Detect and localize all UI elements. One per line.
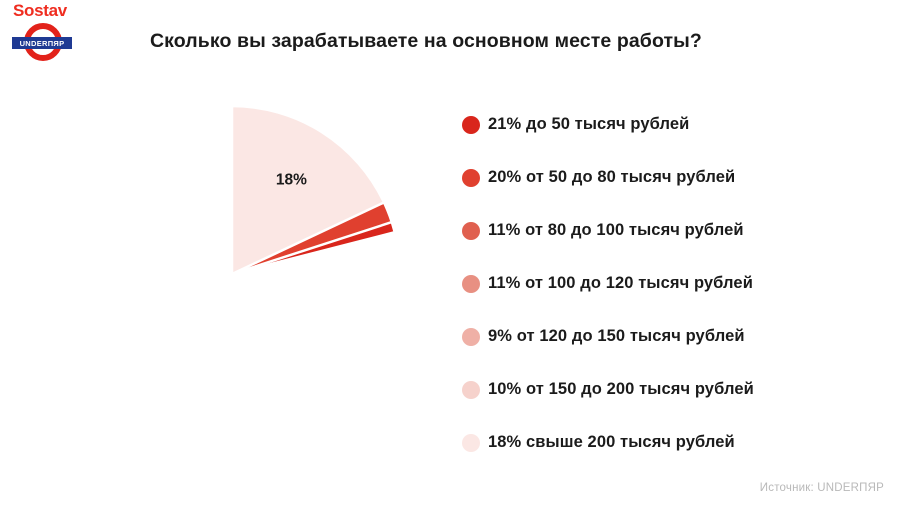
chart-legend: 21% до 50 тысяч рублей20% от 50 до 80 ты… xyxy=(462,98,882,469)
legend-color-dot-icon xyxy=(462,275,480,293)
legend-item-percent: 21% xyxy=(488,115,521,134)
legend-item-label: 10% от 150 до 200 тысяч рублей xyxy=(488,380,754,399)
legend-color-dot-icon xyxy=(462,169,480,187)
legend-item[interactable]: 10% от 150 до 200 тысяч рублей xyxy=(462,363,882,416)
legend-color-dot-icon xyxy=(462,116,480,134)
pie-chart-svg: 21%20%11%11%9%10%18% xyxy=(62,104,402,444)
legend-item-label: 11% от 100 до 120 тысяч рублей xyxy=(488,274,753,293)
legend-item-label: 11% от 80 до 100 тысяч рублей xyxy=(488,221,744,240)
legend-item-category: от 50 до 80 тысяч рублей xyxy=(521,168,735,186)
legend-color-dot-icon xyxy=(462,434,480,452)
legend-item-percent: 9% xyxy=(488,327,512,346)
legend-item-label: 20% от 50 до 80 тысяч рублей xyxy=(488,168,735,187)
legend-color-dot-icon xyxy=(462,328,480,346)
legend-item-percent: 11% xyxy=(488,274,520,293)
brand-logo: Sostav UNDERПЯР xyxy=(8,2,128,64)
legend-item[interactable]: 9% от 120 до 150 тысяч рублей xyxy=(462,310,882,363)
legend-color-dot-icon xyxy=(462,222,480,240)
legend-item-category: от 80 до 100 тысяч рублей xyxy=(520,221,743,239)
pie-slice-label: 18% xyxy=(276,171,307,188)
legend-item-category: до 50 тысяч рублей xyxy=(521,115,689,133)
legend-item-percent: 18% xyxy=(488,433,521,452)
legend-item-category: от 120 до 150 тысяч рублей xyxy=(512,327,745,345)
legend-item[interactable]: 18% свыше 200 тысяч рублей xyxy=(462,416,882,469)
roundel-bar: UNDERПЯР xyxy=(12,37,72,49)
legend-item-percent: 20% xyxy=(488,168,521,187)
legend-item[interactable]: 11% от 100 до 120 тысяч рублей xyxy=(462,257,882,310)
sostav-wordmark: Sostav xyxy=(13,2,128,19)
legend-item-percent: 11% xyxy=(488,221,520,240)
underpyar-roundel-icon: UNDERПЯР xyxy=(12,23,72,63)
legend-item-category: от 150 до 200 тысяч рублей xyxy=(521,380,754,398)
legend-item-label: 18% свыше 200 тысяч рублей xyxy=(488,433,735,452)
legend-item[interactable]: 11% от 80 до 100 тысяч рублей xyxy=(462,204,882,257)
source-note: Источник: UNDERПЯР xyxy=(760,482,884,494)
legend-item[interactable]: 20% от 50 до 80 тысяч рублей xyxy=(462,151,882,204)
legend-color-dot-icon xyxy=(462,381,480,399)
pie-chart: 21%20%11%11%9%10%18% xyxy=(62,104,402,444)
legend-item-label: 21% до 50 тысяч рублей xyxy=(488,115,689,134)
page-title: Сколько вы зарабатываете на основном мес… xyxy=(150,30,770,53)
legend-item-label: 9% от 120 до 150 тысяч рублей xyxy=(488,327,745,346)
legend-item[interactable]: 21% до 50 тысяч рублей xyxy=(462,98,882,151)
legend-item-percent: 10% xyxy=(488,380,521,399)
legend-item-category: от 100 до 120 тысяч рублей xyxy=(520,274,753,292)
legend-item-category: свыше 200 тысяч рублей xyxy=(521,433,734,451)
roundel-bar-label: UNDERПЯР xyxy=(20,39,65,48)
